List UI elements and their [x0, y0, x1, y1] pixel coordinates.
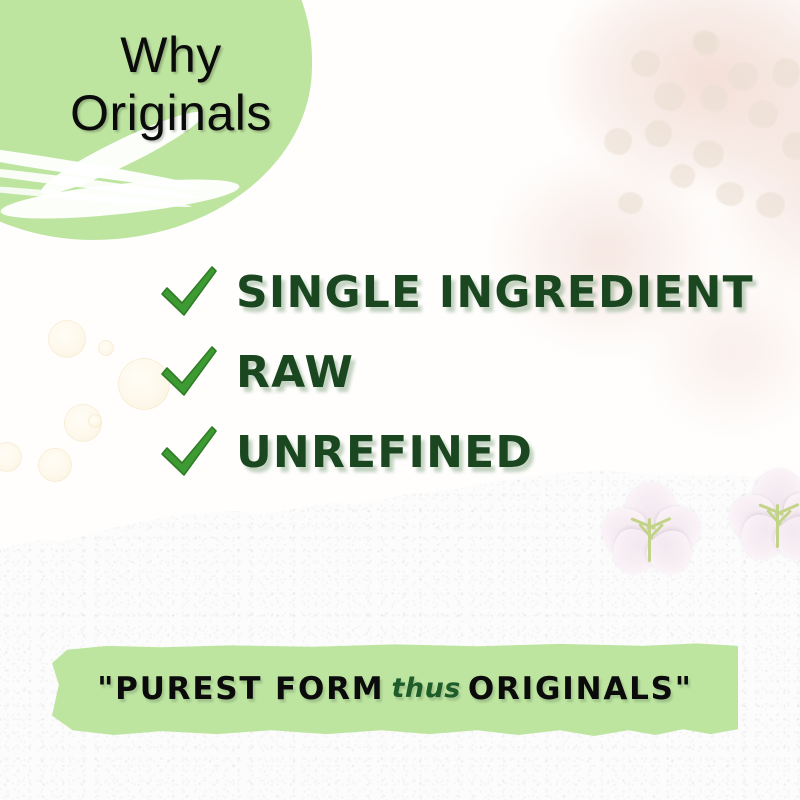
checklist-item-label: RAW: [236, 347, 354, 398]
title-line-1: Why: [46, 26, 296, 84]
benefits-checklist: SINGLE INGREDIENT RAW UNREFINED: [158, 252, 758, 492]
checklist-item-label: UNREFINED: [236, 427, 533, 478]
quote-part-close: ORIGINALS": [468, 671, 693, 707]
flower-icon: [728, 468, 800, 564]
check-icon: [158, 343, 220, 401]
checklist-item-raw: RAW: [158, 332, 758, 412]
title-line-2: Originals: [46, 84, 296, 142]
quote-part-open: "PUREST FORM: [97, 671, 384, 707]
check-icon: [158, 423, 220, 481]
flower-icon: [600, 482, 704, 578]
quote-banner-text: "PUREST FORM thus ORIGINALS": [52, 640, 738, 737]
poster-canvas: Why Originals SINGLE INGREDIENT RAW: [0, 0, 800, 800]
checklist-item-unrefined: UNREFINED: [158, 412, 758, 492]
page-title: Why Originals: [46, 26, 296, 142]
check-icon: [158, 263, 220, 321]
quote-part-emphasis: thus: [391, 673, 460, 704]
checklist-item-label: SINGLE INGREDIENT: [236, 267, 754, 318]
checklist-item-single-ingredient: SINGLE INGREDIENT: [158, 252, 758, 332]
